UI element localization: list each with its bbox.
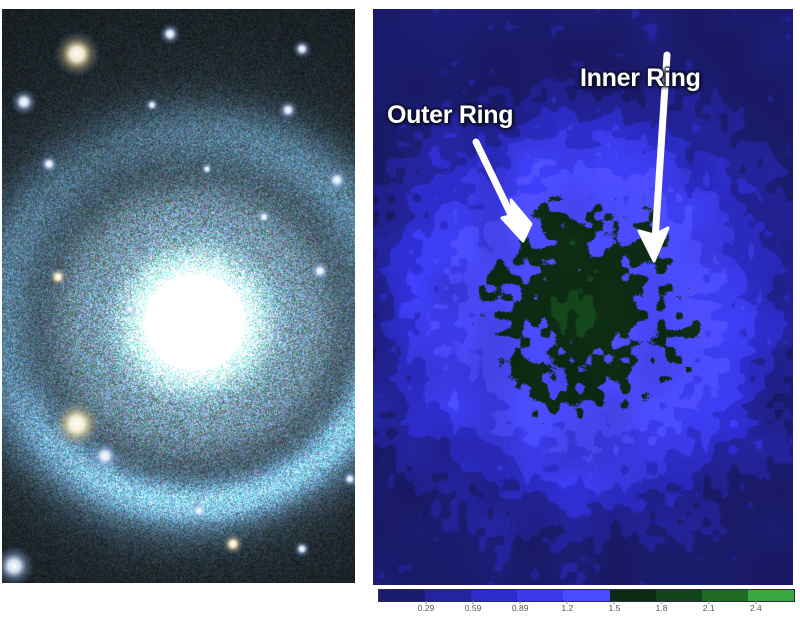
colorbar-tick-label: 1.8 [656,603,668,613]
colorbar-segment [471,590,517,601]
colorbar-gradient [378,589,795,602]
isophote-map-panel [373,9,793,585]
optical-composite-panel [2,9,355,583]
colorbar-segment [610,590,656,601]
colorbar-segment [425,590,471,601]
colorbar-tick-label: 1.5 [609,603,621,613]
optical-composite-image [2,9,355,583]
colorbar-segment [379,590,425,601]
colorbar-tick-label: 2.1 [703,603,715,613]
colorbar-tick-label: 0.29 [418,603,435,613]
colorbar-container: 0.290.590.891.21.51.82.12.4 [378,589,795,619]
colorbar-tick-label: 1.2 [561,603,573,613]
isophote-map-image [373,9,793,585]
colorbar-segment [702,590,748,601]
colorbar-segment [563,590,609,601]
figure-container: Outer Ring Inner Ring 0.290.590.891.21.5… [0,0,800,621]
colorbar-segment [656,590,702,601]
colorbar-segment [748,590,794,601]
colorbar-tick-label: 0.59 [465,603,482,613]
colorbar-tick-label: 0.89 [512,603,529,613]
colorbar-segment [517,590,563,601]
colorbar-tick-label: 2.4 [750,603,762,613]
colorbar-tick-labels: 0.290.590.891.21.51.82.12.4 [378,603,795,619]
